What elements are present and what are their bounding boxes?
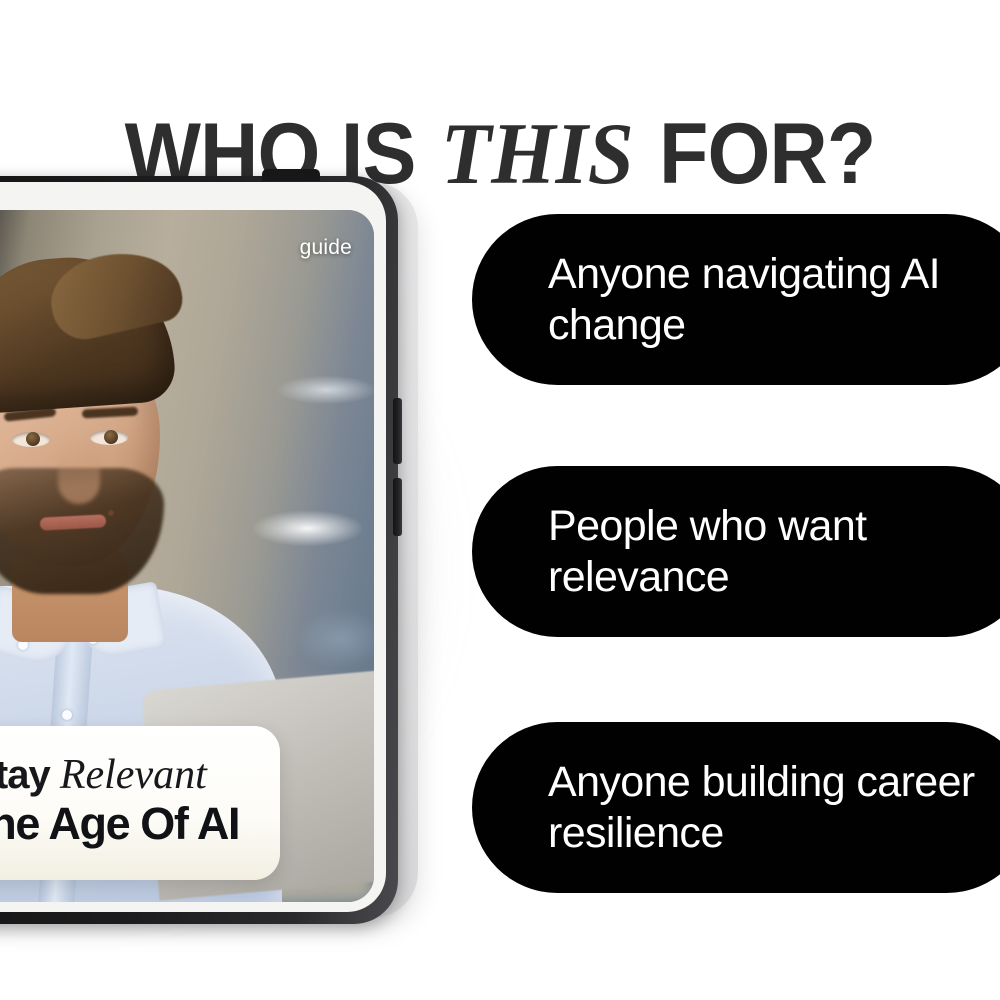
guide-label: guide	[300, 236, 352, 260]
device-frame: guide Stay Relevant In The Age Of AI	[0, 176, 398, 924]
caption-italic-word: Relevant	[60, 752, 207, 798]
subject-mole	[108, 510, 114, 516]
audience-pill-2[interactable]: People who want relevance	[472, 466, 1000, 637]
camera-bump-icon	[262, 169, 320, 181]
subject-iris-left	[26, 432, 40, 446]
audience-pill-1-label: Anyone navigating AI change	[548, 249, 978, 351]
audience-pill-3[interactable]: Anyone building career resilience	[472, 722, 1000, 893]
headline-emphasis: THIS	[437, 106, 638, 203]
subject-nose	[58, 442, 100, 504]
headline-part-2: FOR?	[638, 106, 876, 202]
caption-line-1: Stay Relevant	[0, 752, 254, 798]
audience-pill-2-label: People who want relevance	[548, 501, 978, 603]
caption-card: Stay Relevant In The Age Of AI	[0, 726, 280, 880]
caption-bold-word: Stay	[0, 753, 60, 797]
device-screen: guide Stay Relevant In The Age Of AI	[0, 210, 374, 902]
tablet-mockup: guide Stay Relevant In The Age Of AI	[0, 176, 418, 924]
slide-canvas: WHO IS THIS FOR?	[0, 0, 1000, 1000]
caption-line-2: In The Age Of AI	[0, 798, 254, 850]
volume-button[interactable]	[393, 398, 402, 464]
audience-pill-3-label: Anyone building career resilience	[548, 757, 978, 859]
subject-iris-right	[104, 430, 118, 444]
audience-pill-1[interactable]: Anyone navigating AI change	[472, 214, 1000, 385]
power-button[interactable]	[393, 478, 402, 536]
shirt-button	[62, 710, 72, 720]
